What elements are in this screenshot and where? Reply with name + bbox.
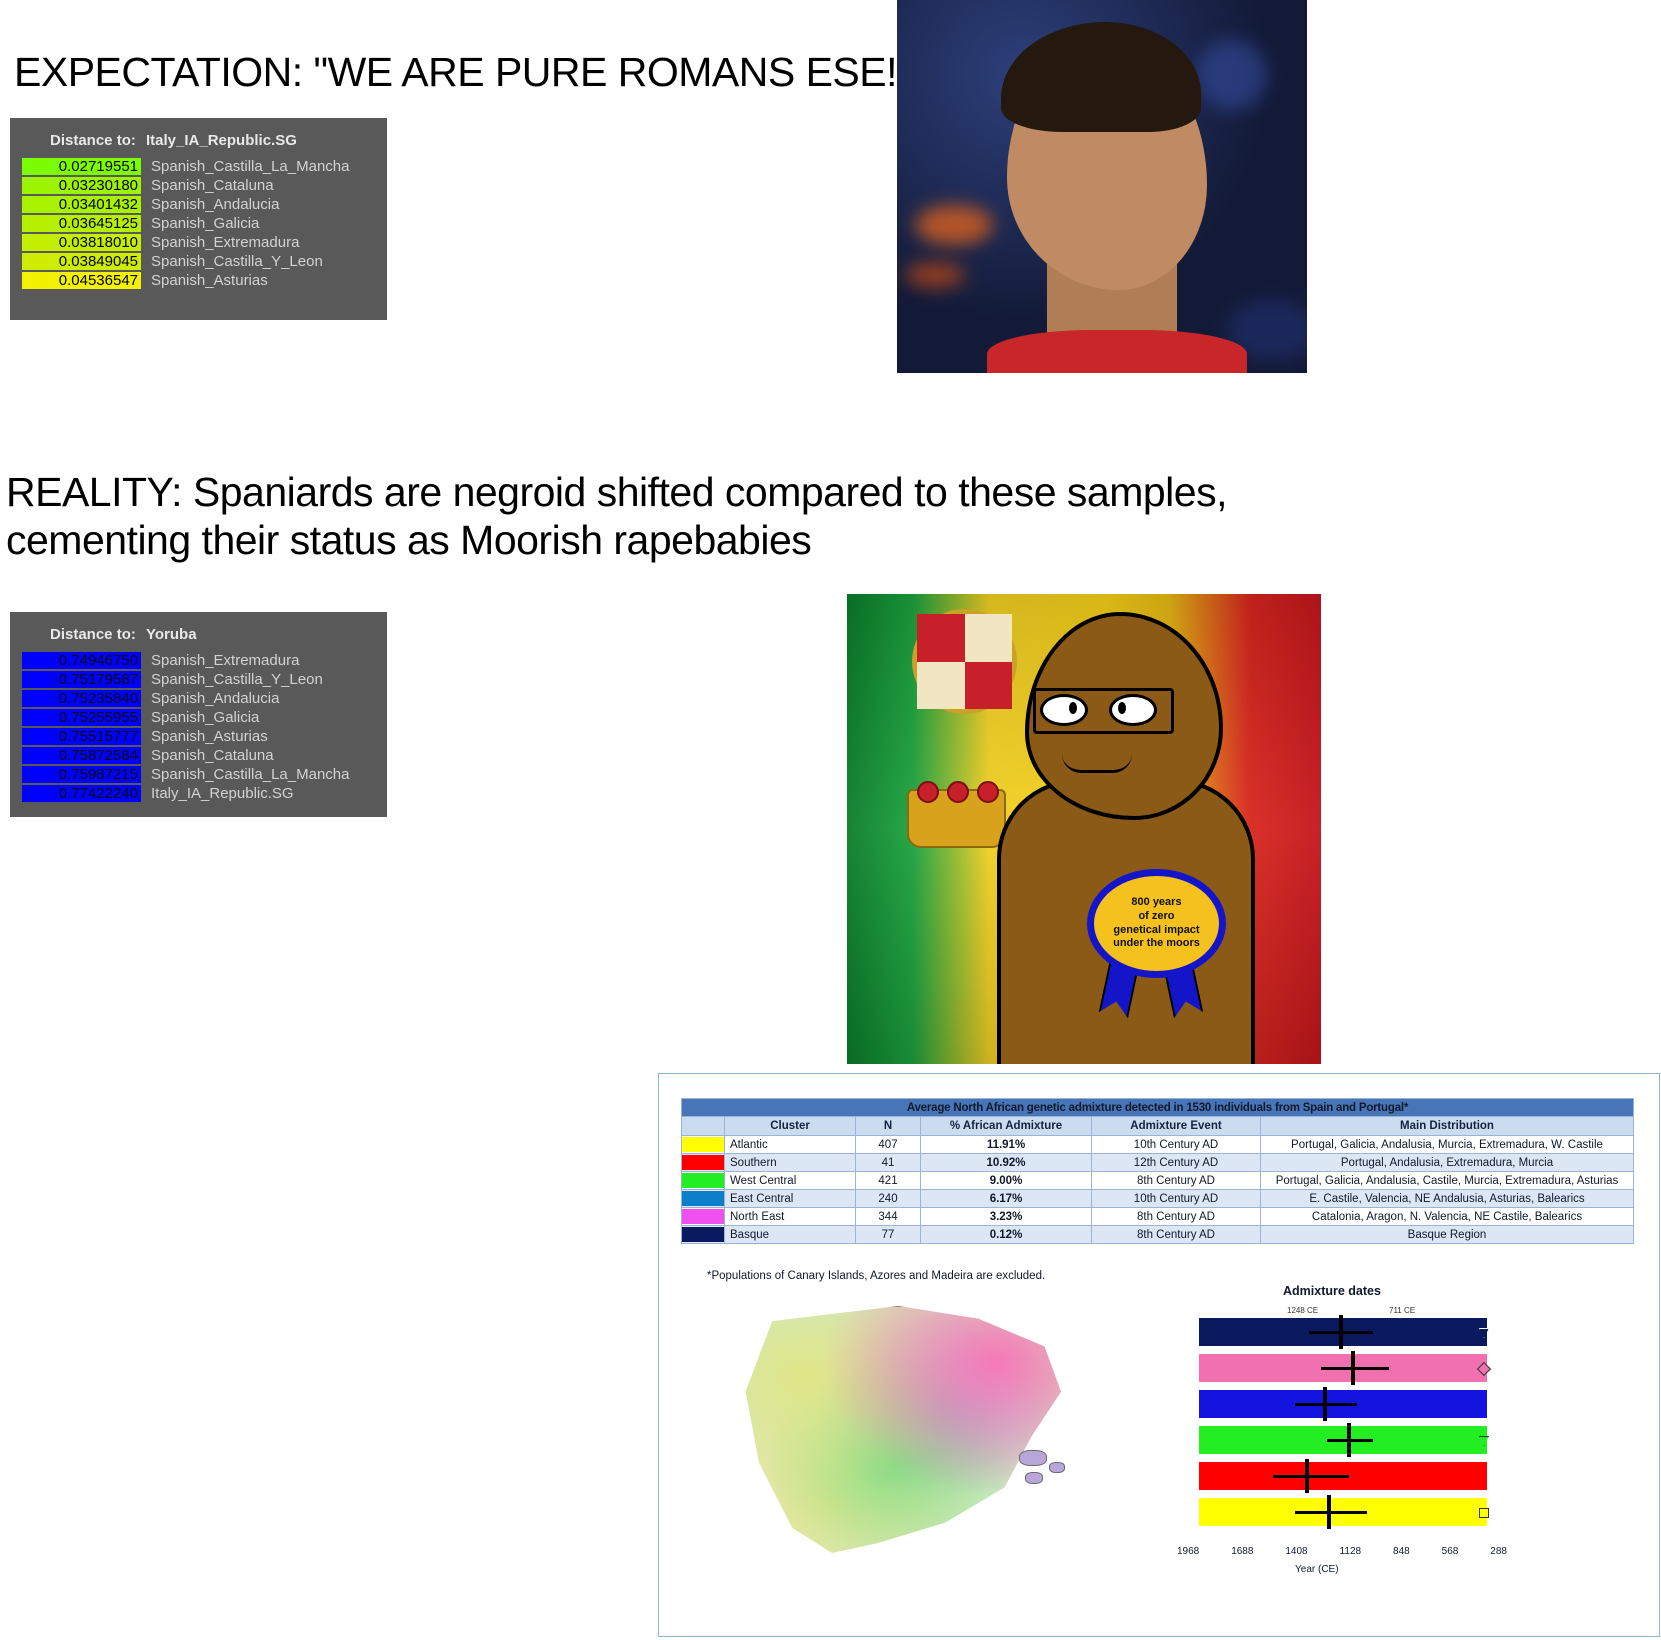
distance-value: 0.75872584: [22, 747, 141, 764]
table-row: Atlantic 407 11.91% 10th Century AD Port…: [682, 1136, 1634, 1154]
distance-value: 0.75255955: [22, 709, 141, 726]
hair-shape: [1001, 22, 1201, 132]
population-name: Spanish_Galicia: [141, 215, 259, 232]
balearic-islands: [1019, 1446, 1071, 1486]
population-name: Spanish_Andalucia: [141, 690, 279, 707]
distance-row: 0.75515777 Spanish_Asturias: [22, 727, 387, 746]
population-name: Spanish_Cataluna: [141, 177, 274, 194]
distance-value: 0.75987215: [22, 766, 141, 783]
cluster-name: East Central: [725, 1190, 856, 1208]
population-name: Spanish_Castilla_La_Mancha: [141, 158, 349, 175]
distance-value: 0.74946750: [22, 652, 141, 669]
admixture-table: Average North African genetic admixture …: [681, 1098, 1634, 1244]
cluster-distribution: Catalonia, Aragon, N. Valencia, NE Casti…: [1261, 1208, 1634, 1226]
cluster-n: 41: [856, 1154, 921, 1172]
iberia-admixture-map: [719, 1296, 1149, 1616]
population-name: Spanish_Castilla_Y_Leon: [141, 671, 323, 688]
cluster-pct: 0.12%: [921, 1226, 1092, 1244]
chart-title: Admixture dates: [1283, 1284, 1381, 1298]
distance-value: 0.02719551: [22, 158, 141, 175]
cluster-distribution: Portugal, Andalusia, Extremadura, Murcia: [1261, 1154, 1634, 1172]
distance-row: 0.75987215 Spanish_Castilla_La_Mancha: [22, 765, 387, 784]
cluster-name: Southern: [725, 1154, 856, 1172]
cluster-n: 240: [856, 1190, 921, 1208]
cluster-pct: 11.91%: [921, 1136, 1092, 1154]
cluster-distribution: E. Castile, Valencia, NE Andalusia, Astu…: [1261, 1190, 1634, 1208]
cluster-name: West Central: [725, 1172, 856, 1190]
distance-row: 0.04536547 Spanish_Asturias: [22, 271, 387, 290]
population-name: Spanish_Castilla_Y_Leon: [141, 253, 323, 270]
bokeh-light: [1197, 40, 1267, 110]
table-row: North East 344 3.23% 8th Century AD Cata…: [682, 1208, 1634, 1226]
distance-row: 0.02719551 Spanish_Castilla_La_Mancha: [22, 157, 387, 176]
table-header-row: Cluster N % African Admixture Admixture …: [682, 1117, 1634, 1136]
chart-bar-west-central: [1199, 1426, 1487, 1454]
cluster-pct: 10.92%: [921, 1154, 1092, 1172]
population-name: Spanish_Castilla_La_Mancha: [141, 766, 349, 783]
distance-panel-yoruba: Distance to: Yoruba 0.74946750 Spanish_E…: [10, 612, 387, 817]
chart-x-axis-ticks: 1968 1688 1408 1128 848 568 288: [1177, 1546, 1507, 1557]
bokeh-light: [915, 205, 993, 245]
wojak-mouth: [1062, 754, 1132, 773]
distance-row: 0.77422240 Italy_IA_Republic.SG: [22, 784, 387, 803]
iberia-landmass: [739, 1306, 1071, 1558]
x-tick: 1408: [1285, 1546, 1307, 1557]
column-header-event: Admixture Event: [1092, 1117, 1261, 1136]
distance-rows: 0.74946750 Spanish_Extremadura 0.7517958…: [10, 651, 387, 803]
x-tick: 1968: [1177, 1546, 1199, 1557]
cluster-pct: 3.23%: [921, 1208, 1092, 1226]
cluster-event: 8th Century AD: [1092, 1208, 1261, 1226]
table-row: Basque 77 0.12% 8th Century AD Basque Re…: [682, 1226, 1634, 1244]
cluster-distribution: Portugal, Galicia, Andalusia, Murcia, Ex…: [1261, 1136, 1634, 1154]
column-header-n: N: [856, 1117, 921, 1136]
x-tick: 1128: [1340, 1546, 1362, 1557]
distance-row: 0.75235840 Spanish_Andalucia: [22, 689, 387, 708]
distance-panel-italy: Distance to: Italy_IA_Republic.SG 0.0271…: [10, 118, 387, 320]
crown-icon: [907, 789, 1006, 848]
table-row: East Central 240 6.17% 10th Century AD E…: [682, 1190, 1634, 1208]
population-name: Spanish_Extremadura: [141, 652, 299, 669]
distance-row: 0.03401432 Spanish_Andalucia: [22, 195, 387, 214]
x-tick: 1688: [1231, 1546, 1253, 1557]
chart-plot-area: [1199, 1318, 1487, 1538]
cluster-distribution: Basque Region: [1261, 1226, 1634, 1244]
chart-bar-north-east: [1199, 1354, 1487, 1382]
distance-value: 0.75235840: [22, 690, 141, 707]
distance-row: 0.75872584 Spanish_Cataluna: [22, 746, 387, 765]
cluster-color-swatch: [682, 1208, 725, 1226]
cluster-event: 10th Century AD: [1092, 1136, 1261, 1154]
distance-row: 0.75179587 Spanish_Castilla_Y_Leon: [22, 670, 387, 689]
cluster-color-swatch: [682, 1172, 725, 1190]
admixture-table-title: Average North African genetic admixture …: [682, 1099, 1634, 1117]
population-name: Spanish_Extremadura: [141, 234, 299, 251]
distance-row: 0.03230180 Spanish_Cataluna: [22, 176, 387, 195]
annotation-1248ce: 1248 CE: [1287, 1306, 1318, 1315]
distance-to-label: Distance to:: [50, 626, 136, 643]
cluster-name: North East: [725, 1208, 856, 1226]
population-name: Spanish_Cataluna: [141, 747, 274, 764]
population-name: Italy_IA_Republic.SG: [141, 785, 294, 802]
sainz-photo: [897, 0, 1307, 373]
admixture-figure-panel: Average North African genetic admixture …: [658, 1073, 1660, 1637]
cluster-n: 407: [856, 1136, 921, 1154]
distance-value: 0.03645125: [22, 215, 141, 232]
distance-row: 0.03849045 Spanish_Castilla_Y_Leon: [22, 252, 387, 271]
bokeh-light: [905, 262, 965, 288]
column-header-distribution: Main Distribution: [1261, 1117, 1634, 1136]
distance-to-label: Distance to:: [50, 132, 136, 149]
cluster-event: 10th Century AD: [1092, 1190, 1261, 1208]
population-name: Spanish_Asturias: [141, 728, 268, 745]
distance-value: 0.03818010: [22, 234, 141, 251]
distance-target-name: Yoruba: [146, 626, 197, 643]
annotation-711ce: 711 CE: [1389, 1306, 1415, 1315]
distance-row: 0.03645125 Spanish_Galicia: [22, 214, 387, 233]
chart-bar-atlantic: [1199, 1498, 1487, 1526]
column-header-cluster: Cluster: [725, 1117, 856, 1136]
cluster-distribution: Portugal, Galicia, Andalusia, Castile, M…: [1261, 1172, 1634, 1190]
award-badge-text: 800 years of zero genetical impact under…: [1113, 896, 1200, 951]
distance-row: 0.74946750 Spanish_Extremadura: [22, 651, 387, 670]
cluster-name: Atlantic: [725, 1136, 856, 1154]
distance-value: 0.75179587: [22, 671, 141, 688]
table-row: West Central 421 9.00% 8th Century AD Po…: [682, 1172, 1634, 1190]
admixture-dates-chart: Admixture dates 1248 CE 711 CE: [1167, 1284, 1627, 1614]
admixture-footnote: *Populations of Canary Islands, Azores a…: [707, 1270, 1045, 1282]
distance-value: 0.04536547: [22, 272, 141, 289]
population-name: Spanish_Galicia: [141, 709, 259, 726]
distance-row: 0.75255955 Spanish_Galicia: [22, 708, 387, 727]
table-title-row: Average North African genetic admixture …: [682, 1099, 1634, 1117]
distance-value: 0.03230180: [22, 177, 141, 194]
x-tick: 848: [1393, 1546, 1410, 1557]
chart-x-axis-label: Year (CE): [1295, 1564, 1339, 1575]
coat-of-arms-icon: [912, 609, 1017, 714]
shirt-shape: [987, 330, 1247, 373]
cluster-n: 344: [856, 1208, 921, 1226]
distance-value: 0.77422240: [22, 785, 141, 802]
x-tick: 288: [1490, 1546, 1507, 1557]
cluster-color-swatch: [682, 1226, 725, 1244]
chart-bar-southern: [1199, 1462, 1487, 1490]
cluster-event: 12th Century AD: [1092, 1154, 1261, 1172]
cluster-name: Basque: [725, 1226, 856, 1244]
cluster-color-swatch: [682, 1136, 725, 1154]
distance-row: 0.03818010 Spanish_Extremadura: [22, 233, 387, 252]
cluster-color-swatch: [682, 1154, 725, 1172]
glasses-icon: [1033, 688, 1174, 734]
distance-target-name: Italy_IA_Republic.SG: [146, 132, 297, 149]
cluster-pct: 9.00%: [921, 1172, 1092, 1190]
cluster-pct: 6.17%: [921, 1190, 1092, 1208]
cluster-n: 77: [856, 1226, 921, 1244]
distance-value: 0.03849045: [22, 253, 141, 270]
population-name: Spanish_Asturias: [141, 272, 268, 289]
chart-bar-east-central: [1199, 1390, 1487, 1418]
wojak-meme-image: 800 years of zero genetical impact under…: [847, 594, 1321, 1064]
table-row: Southern 41 10.92% 12th Century AD Portu…: [682, 1154, 1634, 1172]
cluster-color-swatch: [682, 1190, 725, 1208]
population-name: Spanish_Andalucia: [141, 196, 279, 213]
distance-panel-header: Distance to: Yoruba: [10, 612, 387, 651]
distance-value: 0.03401432: [22, 196, 141, 213]
cluster-event: 8th Century AD: [1092, 1226, 1261, 1244]
column-header-pct: % African Admixture: [921, 1117, 1092, 1136]
x-tick: 568: [1442, 1546, 1459, 1557]
cluster-n: 421: [856, 1172, 921, 1190]
reality-headline: REALITY: Spaniards are negroid shifted c…: [6, 468, 1326, 565]
distance-value: 0.75515777: [22, 728, 141, 745]
column-header-color: [682, 1117, 725, 1136]
cluster-event: 8th Century AD: [1092, 1172, 1261, 1190]
award-badge: 800 years of zero genetical impact under…: [1087, 869, 1226, 978]
expectation-headline: EXPECTATION: "WE ARE PURE ROMANS ESE!": [14, 48, 911, 96]
chart-bar-basque: [1199, 1318, 1487, 1346]
distance-rows: 0.02719551 Spanish_Castilla_La_Mancha 0.…: [10, 157, 387, 290]
distance-panel-header: Distance to: Italy_IA_Republic.SG: [10, 118, 387, 157]
